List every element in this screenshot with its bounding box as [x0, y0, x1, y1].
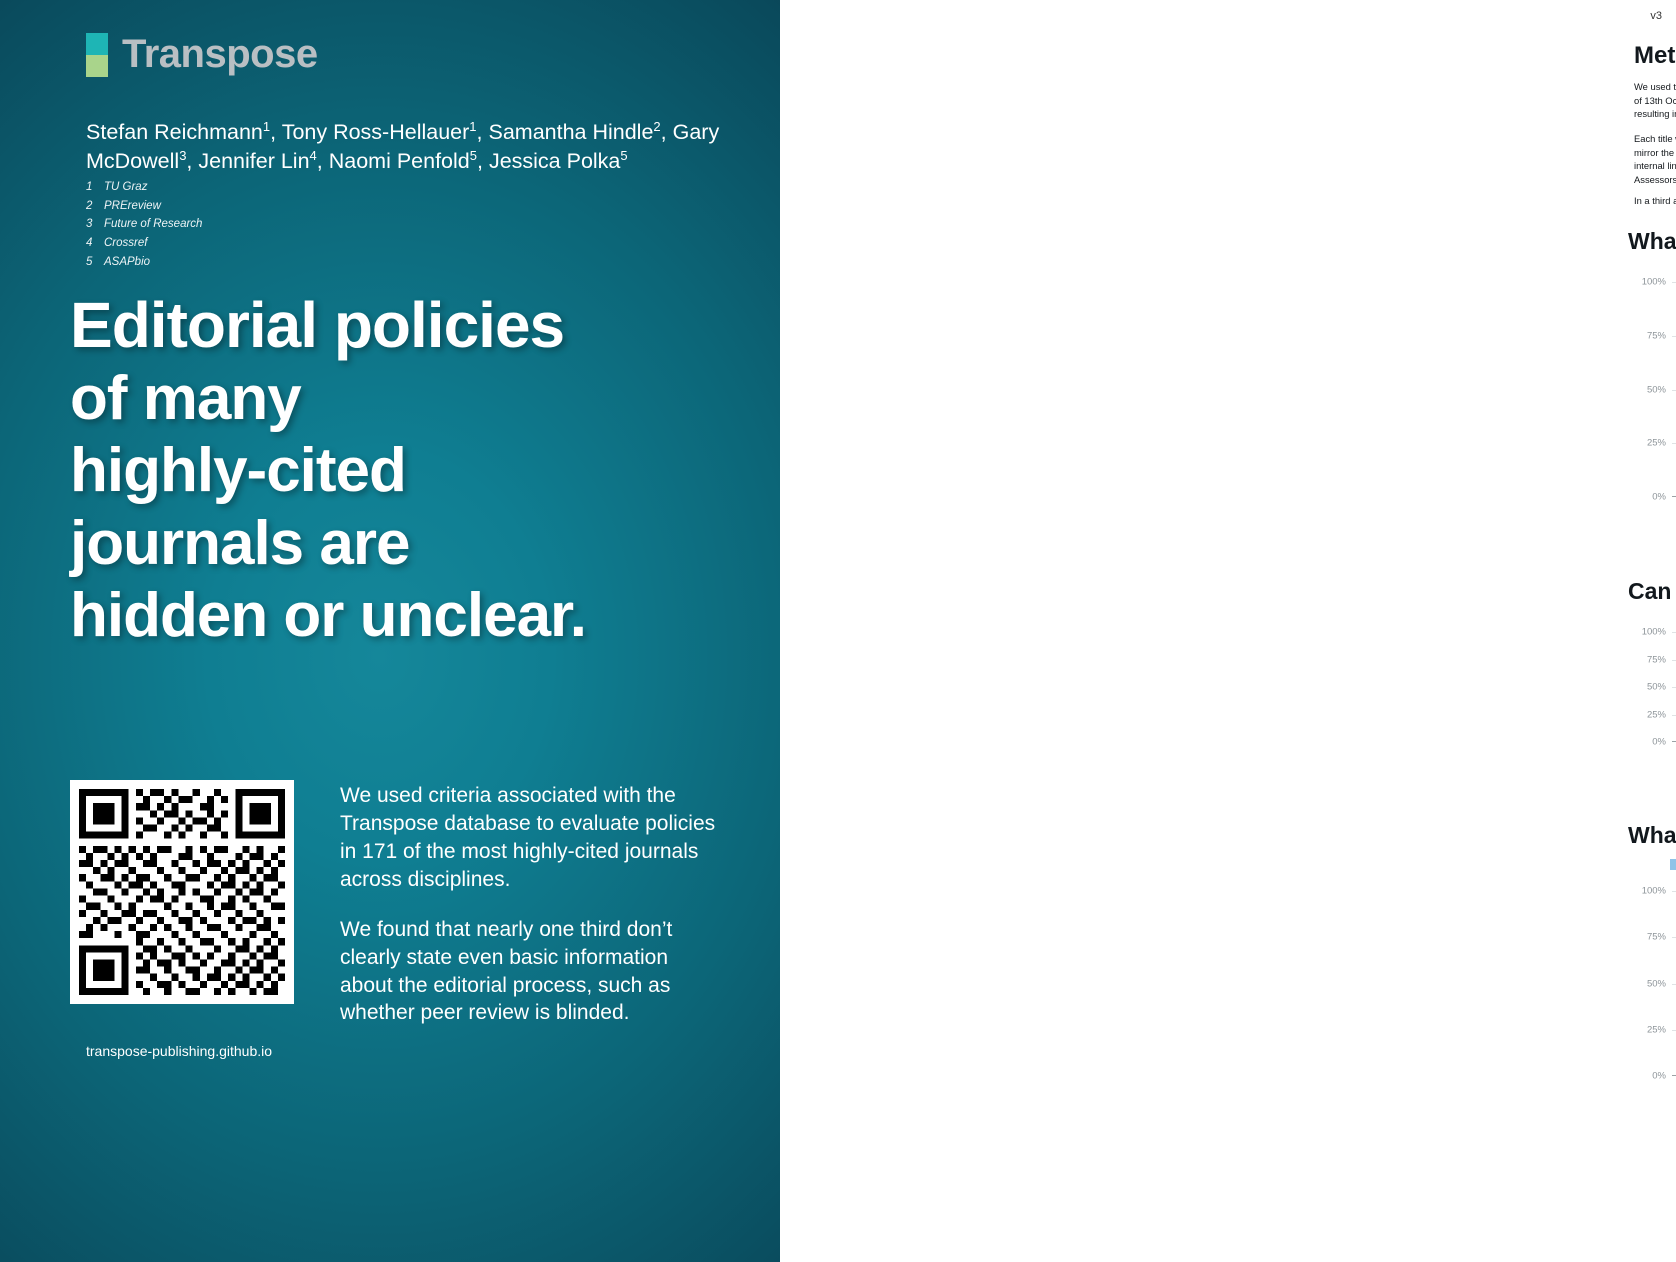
affiliation-name: TU Graz	[104, 178, 147, 197]
legend-row: UnsureNoYes	[1628, 615, 1676, 626]
headline-line-4: journals are	[70, 508, 770, 581]
methods-paragraph-2: Each title was assigned to two independe…	[1634, 132, 1676, 187]
transpose-logo-icon	[86, 33, 108, 77]
qr-code-icon	[79, 789, 285, 995]
bar-group: 3251318669341403426110113400320123002101…	[1672, 891, 1676, 1076]
brand-logo: Transpose	[86, 32, 318, 77]
affiliation-number: 5	[86, 253, 104, 272]
y-axis-tick: 100%	[1642, 277, 1666, 288]
affiliation-number: 4	[86, 234, 104, 253]
x-axis-labels: All journalsBusiness,Economics &Manageme…	[1672, 1076, 1676, 1116]
affiliation-name: ASAPbio	[104, 253, 150, 272]
affiliation-list: 1TU Graz 2PREreview 3Future of Research …	[86, 178, 202, 272]
chart-plot: 0%25%50%75%100% 185446512091100380903836…	[1628, 282, 1676, 497]
legend-row: OtherUnsureDouble blindSingle blindNot b…	[1628, 265, 1676, 276]
chart-title: Can co-reviewers contribute to the revie…	[1628, 578, 1676, 605]
y-axis-tick: 0%	[1652, 1071, 1666, 1082]
y-axis: 0%25%50%75%100%	[1628, 282, 1672, 497]
legend-item[interactable]: Other	[1670, 859, 1676, 870]
author-0: Stefan Reichmann	[86, 120, 263, 144]
author-4-sup: 4	[310, 148, 317, 163]
author-2: Samantha Hindle	[488, 120, 653, 144]
legend-swatch-icon	[1670, 859, 1676, 870]
methods-p2-a: Each title was assigned to two independe…	[1634, 133, 1676, 144]
affiliation-number: 3	[86, 215, 104, 234]
y-axis-tick: 75%	[1647, 330, 1666, 341]
plot-area: 1854465120911003809038360330122231500760…	[1672, 282, 1676, 497]
author-6-sup: 5	[620, 148, 627, 163]
affiliation-item: 5ASAPbio	[86, 253, 202, 272]
author-1: Tony Ross-Hellauer	[282, 120, 470, 144]
headline-line-3: highly-cited	[70, 435, 770, 508]
headline-line-2: of many	[70, 363, 770, 436]
y-axis: 0%25%50%75%100%	[1628, 891, 1672, 1076]
chart-title: What version of a preprint can be posted…	[1628, 822, 1676, 849]
y-axis-tick: 100%	[1642, 627, 1666, 638]
summary-blurb: We used criteria associated with the Tra…	[340, 782, 720, 1027]
headline-line-1: Editorial policies	[70, 288, 770, 363]
qr-caption[interactable]: transpose-publishing.github.io	[86, 1043, 272, 1059]
y-axis-tick: 25%	[1647, 1024, 1666, 1035]
y-axis-tick: 75%	[1647, 654, 1666, 665]
headline-line-5: hidden or unclear.	[70, 580, 770, 653]
bar-column[interactable]: 185446512	[1672, 282, 1676, 497]
chart-plot: 0%25%50%75%100% 128637181118031604141518…	[1628, 632, 1676, 742]
affiliation-item: 3Future of Research	[86, 215, 202, 234]
chart-legend: UnsureNoYes	[1628, 615, 1676, 626]
methods-paragraph-1: We used the Google Scholar Metrics servi…	[1634, 80, 1676, 121]
methods-heading: Methods	[1634, 42, 1676, 70]
chart-peer-review-type: What type of peer review is used? OtherU…	[1628, 228, 1676, 537]
affiliation-name: Crossref	[104, 234, 147, 253]
y-axis-tick: 100%	[1642, 886, 1666, 897]
affiliation-item: 2PREreview	[86, 197, 202, 216]
author-5: Naomi Penfold	[329, 149, 470, 173]
y-axis-tick: 75%	[1647, 932, 1666, 943]
blurb-paragraph-1: We used criteria associated with the Tra…	[340, 782, 720, 894]
bar-column[interactable]: 325131866934	[1672, 891, 1676, 1076]
poster-left-panel: Transpose Stefan Reichmann1, Tony Ross-H…	[0, 0, 790, 1262]
x-axis-label: All journals	[1672, 502, 1676, 537]
y-axis: 0%25%50%75%100%	[1628, 632, 1672, 742]
x-axis-labels: All journalsBusiness,Economics &Manageme…	[1672, 742, 1676, 782]
affiliation-item: 4Crossref	[86, 234, 202, 253]
version-tag: v3	[1650, 10, 1662, 22]
chart-co-reviewers: Can co-reviewers contribute to the revie…	[1628, 578, 1676, 782]
y-axis-tick: 25%	[1647, 709, 1666, 720]
qr-code[interactable]	[70, 780, 294, 1004]
brand-name: Transpose	[122, 32, 318, 77]
x-axis-label: All journals	[1672, 747, 1676, 782]
bar-group: 12863718111803160414151802110912261406	[1672, 632, 1676, 742]
affiliation-number: 1	[86, 178, 104, 197]
plot-area: 12863718111803160414151802110912261406	[1672, 632, 1676, 742]
chart-legend: OtherUnsureDouble blindSingle blindNot b…	[1628, 265, 1676, 276]
methods-paragraph-3: In a third assessment round, two assesso…	[1634, 194, 1676, 208]
affiliation-item: 1TU Graz	[86, 178, 202, 197]
affiliation-name: PREreview	[104, 197, 161, 216]
bar-group: 1854465120911003809038360330122231500760…	[1672, 282, 1676, 497]
author-3-sup: 3	[179, 148, 186, 163]
y-axis-tick: 50%	[1647, 384, 1666, 395]
author-2-sup: 2	[653, 119, 660, 134]
blurb-paragraph-2: We found that nearly one third don’t cle…	[340, 916, 720, 1028]
affiliation-number: 2	[86, 197, 104, 216]
author-5-sup: 5	[470, 148, 477, 163]
author-0-sup: 1	[263, 119, 270, 134]
chart-title: What type of peer review is used?	[1628, 228, 1676, 255]
y-axis-tick: 50%	[1647, 978, 1666, 989]
author-6: Jessica Polka	[489, 149, 620, 173]
plot-area: 3251318669341403426110113400320123002101…	[1672, 891, 1676, 1076]
poster-headline: Editorial policies of many highly-cited …	[70, 288, 770, 653]
y-axis-tick: 50%	[1647, 682, 1666, 693]
y-axis-tick: 0%	[1652, 492, 1666, 503]
author-4: Jennifer Lin	[198, 149, 309, 173]
author-1-sup: 1	[469, 119, 476, 134]
legend-row: First submission only (before peer revie…	[1628, 874, 1676, 885]
y-axis-tick: 25%	[1647, 438, 1666, 449]
x-axis-label: All journals	[1672, 1081, 1676, 1116]
chart-plot: 0%25%50%75%100% 325131866934140342611011…	[1628, 891, 1676, 1076]
y-axis-tick: 0%	[1652, 737, 1666, 748]
legend-row: OtherUnsure (preprints are allowed, but …	[1628, 859, 1676, 870]
x-axis-labels: All journalsBusiness,Economics &Manageme…	[1672, 497, 1676, 537]
author-list: Stefan Reichmann1, Tony Ross-Hellauer1, …	[86, 118, 726, 176]
bar-column[interactable]: 128637	[1672, 632, 1676, 742]
chart-preprint-version: What version of a preprint can be posted…	[1628, 822, 1676, 1116]
poster-right-panel: v3 Methods We used the Google Scholar Me…	[790, 0, 1676, 1262]
affiliation-name: Future of Research	[104, 215, 202, 234]
chart-legend: OtherUnsure (preprints are allowed, but …	[1628, 859, 1676, 885]
